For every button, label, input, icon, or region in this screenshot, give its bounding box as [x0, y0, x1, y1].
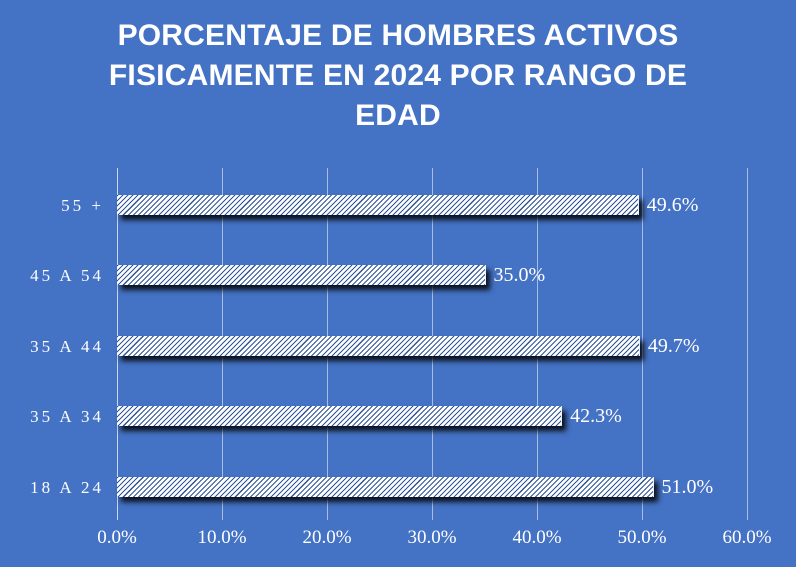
bar-row: 49.6%	[117, 168, 747, 235]
bar[interactable]	[117, 406, 562, 426]
bar-chart: PORCENTAJE DE HOMBRES ACTIVOS FISICAMENT…	[0, 0, 796, 567]
bar[interactable]	[117, 265, 486, 285]
gridline-60.0%	[747, 168, 748, 520]
x-axis-tick-labels: 0.0%10.0%20.0%30.0%40.0%50.0%60.0%	[0, 525, 796, 555]
y-axis-label: 35 A 44	[30, 336, 104, 358]
bar-value-label: 42.3%	[570, 405, 622, 427]
x-axis-tick-label: 40.0%	[487, 525, 587, 551]
bar-value-label: 49.6%	[647, 194, 699, 216]
bar-row: 42.3%	[117, 379, 747, 446]
x-axis-tick-label: 50.0%	[592, 525, 692, 551]
y-axis-label: 35 A 34	[30, 406, 104, 428]
x-axis-tick-label: 30.0%	[382, 525, 482, 551]
bar[interactable]	[117, 195, 639, 215]
bar-row: 51.0%	[117, 450, 747, 517]
chart-title: PORCENTAJE DE HOMBRES ACTIVOS FISICAMENT…	[60, 16, 736, 136]
y-axis-label: 18 A 24	[30, 477, 104, 499]
y-axis-label: 45 A 54	[30, 265, 104, 287]
plot-area: 51.0%42.3%49.7%35.0%49.6%	[117, 168, 747, 520]
bar[interactable]	[117, 336, 640, 356]
bar[interactable]	[117, 477, 654, 497]
bar-value-label: 35.0%	[494, 264, 546, 286]
x-axis-tick-label: 10.0%	[172, 525, 272, 551]
x-axis-tick-label: 0.0%	[67, 525, 167, 551]
bar-value-label: 51.0%	[662, 476, 714, 498]
bar-row: 49.7%	[117, 309, 747, 376]
x-axis-tick-label: 60.0%	[697, 525, 796, 551]
x-axis-tick-label: 20.0%	[277, 525, 377, 551]
bar-row: 35.0%	[117, 238, 747, 305]
y-axis-category-labels: 18 A 2435 A 3435 A 4445 A 5455 +	[0, 168, 104, 520]
y-axis-label: 55 +	[61, 195, 104, 217]
bar-value-label: 49.7%	[648, 335, 700, 357]
